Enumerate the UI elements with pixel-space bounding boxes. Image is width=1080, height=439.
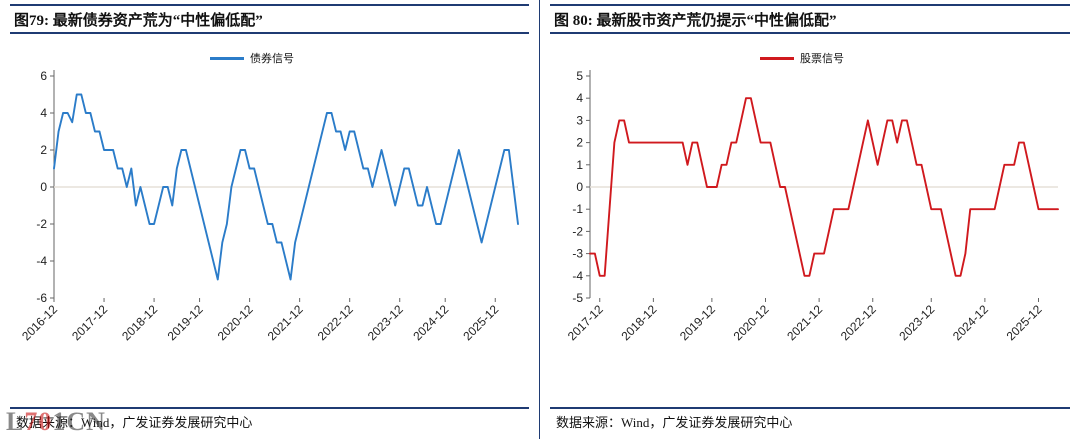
- chart-svg-right: -5-4-3-2-10123452017-122018-122019-12202…: [550, 36, 1070, 386]
- svg-text:1: 1: [576, 158, 583, 172]
- svg-text:2018-12: 2018-12: [119, 302, 160, 343]
- figure-footer-rule-right: [550, 407, 1070, 409]
- legend-label-right: 股票信号: [800, 50, 844, 66]
- chart-left: 债券信号 -6-4-202462016-122017-122018-122019…: [10, 36, 529, 379]
- figure-title-bar-left: 图79: 最新债券资产荒为“中性偏低配”: [10, 4, 529, 34]
- svg-text:-2: -2: [572, 224, 583, 238]
- legend-swatch-icon: [760, 57, 794, 60]
- svg-text:2023-12: 2023-12: [896, 302, 937, 343]
- svg-text:2021-12: 2021-12: [265, 302, 306, 343]
- svg-text:2025-12: 2025-12: [1004, 302, 1045, 343]
- svg-text:4: 4: [40, 106, 47, 120]
- svg-text:2023-12: 2023-12: [365, 302, 406, 343]
- svg-text:6: 6: [40, 69, 47, 83]
- legend-swatch-icon: [210, 57, 244, 60]
- figure-pair: 图79: 最新债券资产荒为“中性偏低配” 债券信号 -6-4-202462016…: [0, 0, 1080, 439]
- figure-title-right: 图 80: 最新股市资产荒仍提示“中性偏低配”: [554, 9, 837, 30]
- legend-label-left: 债券信号: [250, 50, 294, 66]
- svg-text:2020-12: 2020-12: [731, 302, 772, 343]
- svg-text:-2: -2: [36, 217, 47, 231]
- source-note-left: 数据来源：Wind，广发证券发展研究中心: [16, 412, 252, 431]
- figure-title-bar-right: 图 80: 最新股市资产荒仍提示“中性偏低配”: [550, 4, 1070, 34]
- svg-text:2: 2: [40, 143, 47, 157]
- figure-title-left: 图79: 最新债券资产荒为“中性偏低配”: [14, 9, 263, 30]
- svg-text:2020-12: 2020-12: [215, 302, 256, 343]
- svg-text:-6: -6: [36, 291, 47, 305]
- svg-text:3: 3: [576, 113, 583, 127]
- svg-text:2017-12: 2017-12: [69, 302, 110, 343]
- figure-panel-left: 图79: 最新债券资产荒为“中性偏低配” 债券信号 -6-4-202462016…: [0, 0, 540, 439]
- svg-text:5: 5: [576, 69, 583, 83]
- svg-text:-4: -4: [36, 254, 47, 268]
- svg-text:2018-12: 2018-12: [618, 302, 659, 343]
- svg-text:2021-12: 2021-12: [784, 302, 825, 343]
- legend-right: 股票信号: [760, 50, 844, 66]
- svg-text:4: 4: [576, 91, 583, 105]
- svg-text:2016-12: 2016-12: [19, 302, 60, 343]
- svg-text:-3: -3: [572, 247, 583, 261]
- svg-text:-5: -5: [572, 291, 583, 305]
- svg-text:-4: -4: [572, 269, 583, 283]
- svg-text:-1: -1: [572, 202, 583, 216]
- chart-svg-left: -6-4-202462016-122017-122018-122019-1220…: [10, 36, 530, 386]
- svg-text:2: 2: [576, 136, 583, 150]
- figure-footer-rule-left: [10, 407, 529, 409]
- svg-text:2022-12: 2022-12: [315, 302, 356, 343]
- svg-text:2019-12: 2019-12: [677, 302, 718, 343]
- svg-text:2024-12: 2024-12: [950, 302, 991, 343]
- svg-text:2024-12: 2024-12: [410, 302, 451, 343]
- svg-text:2019-12: 2019-12: [165, 302, 206, 343]
- figure-panel-right: 图 80: 最新股市资产荒仍提示“中性偏低配” 股票信号 -5-4-3-2-10…: [540, 0, 1080, 439]
- chart-right: 股票信号 -5-4-3-2-10123452017-122018-122019-…: [550, 36, 1070, 379]
- svg-text:2017-12: 2017-12: [565, 302, 606, 343]
- source-note-right: 数据来源：Wind，广发证券发展研究中心: [556, 412, 792, 431]
- svg-text:2022-12: 2022-12: [838, 302, 879, 343]
- svg-text:0: 0: [40, 180, 47, 194]
- svg-text:0: 0: [576, 180, 583, 194]
- svg-text:2025-12: 2025-12: [460, 302, 501, 343]
- legend-left: 债券信号: [210, 50, 294, 66]
